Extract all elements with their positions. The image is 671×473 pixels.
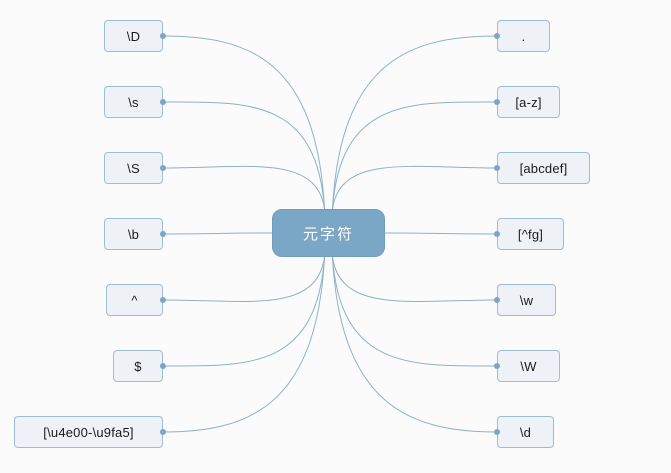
edge-left-3	[163, 233, 272, 234]
leaf-node-label: \b	[128, 228, 139, 241]
leaf-node-left-6[interactable]: [\u4e00-\u9fa5]	[14, 416, 163, 448]
leaf-node-right-6[interactable]: \d	[497, 416, 554, 448]
edge-left-5	[163, 257, 325, 366]
leaf-node-label: [^fg]	[518, 228, 543, 241]
central-node-label: 元字符	[303, 223, 354, 244]
leaf-node-label: \S	[127, 162, 140, 175]
mindmap-canvas: 元字符 \D\s\S\b^$[\u4e00-\u9fa5] .[a-z][abc…	[0, 0, 671, 473]
leaf-node-right-0[interactable]: .	[497, 20, 550, 52]
central-node-metacharacter[interactable]: 元字符	[272, 209, 385, 257]
connector-dot-right-2	[494, 165, 500, 171]
edge-left-4	[163, 257, 325, 302]
leaf-node-left-4[interactable]: ^	[106, 284, 163, 316]
leaf-node-label: \s	[128, 96, 139, 109]
connector-dot-right-4	[494, 297, 500, 303]
leaf-node-label: \w	[520, 294, 533, 307]
leaf-node-label: \W	[520, 360, 536, 373]
leaf-node-right-5[interactable]: \W	[497, 350, 560, 382]
leaf-node-label: [abcdef]	[520, 162, 568, 175]
connector-dot-left-5	[160, 363, 166, 369]
leaf-node-right-1[interactable]: [a-z]	[497, 86, 560, 118]
connector-dot-left-0	[160, 33, 166, 39]
connector-dot-right-5	[494, 363, 500, 369]
connector-dot-right-0	[494, 33, 500, 39]
leaf-node-label: [\u4e00-\u9fa5]	[43, 426, 133, 439]
edge-left-1	[163, 102, 325, 209]
edge-right-5	[333, 257, 498, 366]
connector-dot-left-1	[160, 99, 166, 105]
leaf-node-label: [a-z]	[515, 96, 541, 109]
connector-dot-left-3	[160, 231, 166, 237]
connector-dot-right-3	[494, 231, 500, 237]
edge-left-0	[163, 36, 325, 209]
leaf-node-label: $	[134, 360, 141, 373]
leaf-node-left-2[interactable]: \S	[104, 152, 163, 184]
connector-dot-left-6	[160, 429, 166, 435]
leaf-node-left-3[interactable]: \b	[104, 218, 163, 250]
edge-right-1	[333, 102, 498, 209]
leaf-node-left-5[interactable]: $	[113, 350, 163, 382]
edge-right-4	[333, 257, 498, 302]
leaf-node-label: \d	[520, 426, 531, 439]
connector-dot-right-6	[494, 429, 500, 435]
connector-dot-left-4	[160, 297, 166, 303]
edge-right-2	[333, 166, 498, 209]
leaf-node-right-4[interactable]: \w	[497, 284, 556, 316]
edge-right-0	[333, 36, 498, 209]
leaf-node-label: .	[522, 30, 526, 43]
edge-right-3	[385, 233, 497, 234]
leaf-node-label: \D	[127, 30, 140, 43]
leaf-node-left-1[interactable]: \s	[104, 86, 163, 118]
leaf-node-left-0[interactable]: \D	[104, 20, 163, 52]
leaf-node-right-2[interactable]: [abcdef]	[497, 152, 590, 184]
edge-left-6	[163, 257, 325, 432]
leaf-node-right-3[interactable]: [^fg]	[497, 218, 564, 250]
edge-left-2	[163, 166, 325, 209]
edge-right-6	[333, 257, 498, 432]
connector-dot-right-1	[494, 99, 500, 105]
leaf-node-label: ^	[131, 294, 137, 307]
connector-dot-left-2	[160, 165, 166, 171]
